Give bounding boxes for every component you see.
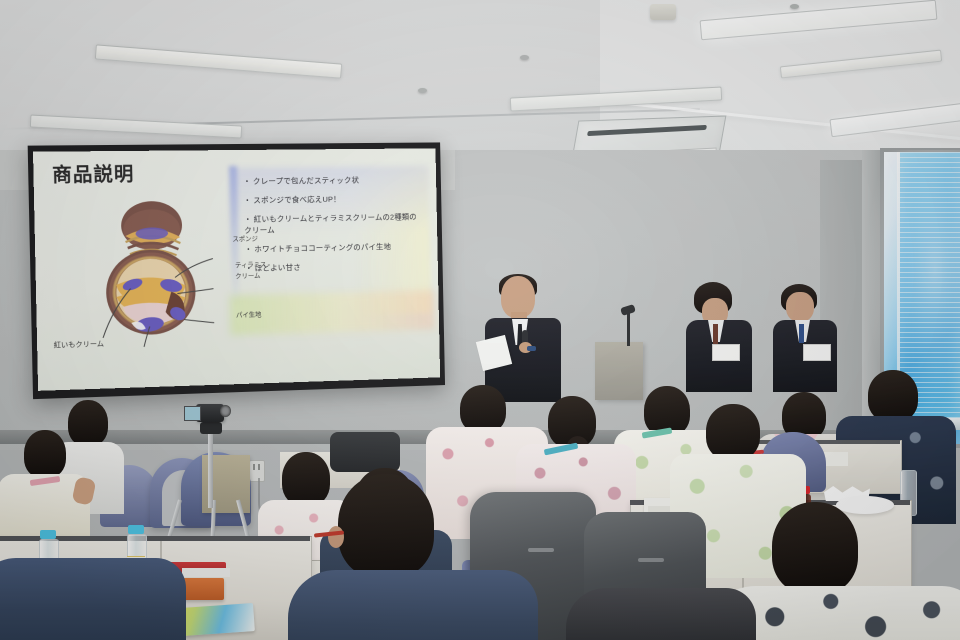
microphone-stand [627, 312, 630, 346]
presenter-looking-down [686, 282, 754, 392]
projection-screen: 商品説明 [33, 148, 440, 391]
power-outlet-slot [253, 464, 255, 470]
chair-handle[interactable] [638, 558, 664, 562]
audience-member-foreground [308, 474, 528, 640]
audience-member-foreground [0, 548, 186, 640]
necktie [799, 324, 804, 343]
wristwatch [527, 346, 536, 351]
photo-scene: 商品説明 [0, 0, 960, 640]
name-badge [712, 344, 740, 361]
bottle-cap [40, 530, 56, 539]
torso [288, 570, 538, 640]
bullet-text: スポンジで食べ応えUP！ [253, 195, 341, 205]
head [706, 404, 760, 460]
bullet-marker: ・ [243, 196, 251, 205]
torso [0, 558, 186, 640]
head [24, 430, 66, 478]
sprinkler-icon [520, 55, 529, 60]
bullet-marker: ・ [245, 245, 253, 254]
slide-bullet: ・クレープで包んだスティック状 [243, 174, 419, 187]
head [772, 502, 858, 594]
tripod-column [208, 430, 213, 508]
bullet-text: ほどよい甘さ [255, 263, 301, 273]
camcorder-lens [220, 405, 231, 417]
slide-bullet: ・ほどよい甘さ [245, 259, 421, 274]
ear [328, 526, 344, 548]
diagram-label-beniimo-cream: 紅いもクリーム [54, 339, 104, 351]
bullet-marker: ・ [244, 215, 252, 224]
bullet-text: 紅いもクリームとティラミスクリームの2種類のクリーム [244, 212, 417, 235]
presenter-standing [773, 284, 839, 392]
product-cross-section-illustration [84, 198, 229, 352]
face [786, 292, 814, 322]
bullet-text: ホワイトチョココーティングのパイ生地 [254, 242, 391, 254]
diagram-label-pie-crust: パイ生地 [236, 309, 262, 319]
slide-bullet: ・ホワイトチョココーティングのパイ生地 [244, 241, 420, 255]
slide-bullet-list: ・クレープで包んだスティック状 ・スポンジで食べ応えUP！ ・紅いもクリームとテ… [243, 174, 421, 282]
bullet-text: クレープで包んだスティック状 [253, 176, 359, 186]
audience-member-foreground [566, 588, 756, 640]
power-outlet-slot [258, 464, 260, 470]
sprinkler-icon [418, 88, 427, 93]
white-papers [182, 568, 230, 577]
chair-handle[interactable] [528, 548, 554, 552]
bullet-marker: ・ [243, 177, 251, 186]
slide-bullet: ・紅いもクリームとティラミスクリームの2種類のクリーム [244, 211, 420, 236]
tripod-head [200, 422, 222, 434]
smoke-detector-icon [650, 4, 676, 20]
head [460, 385, 506, 433]
slide-bullet: ・スポンジで食べ応えUP！ [243, 193, 419, 206]
bullet-marker: ・ [245, 264, 253, 273]
slide-title: 商品説明 [52, 159, 135, 187]
name-badge [803, 344, 831, 361]
head [868, 370, 918, 422]
presenter-with-microphone [483, 276, 563, 401]
bottle-cap [128, 525, 144, 534]
necktie [713, 324, 718, 344]
sprinkler-icon [790, 4, 799, 9]
camcorder-screen [184, 406, 201, 421]
head [338, 474, 434, 578]
